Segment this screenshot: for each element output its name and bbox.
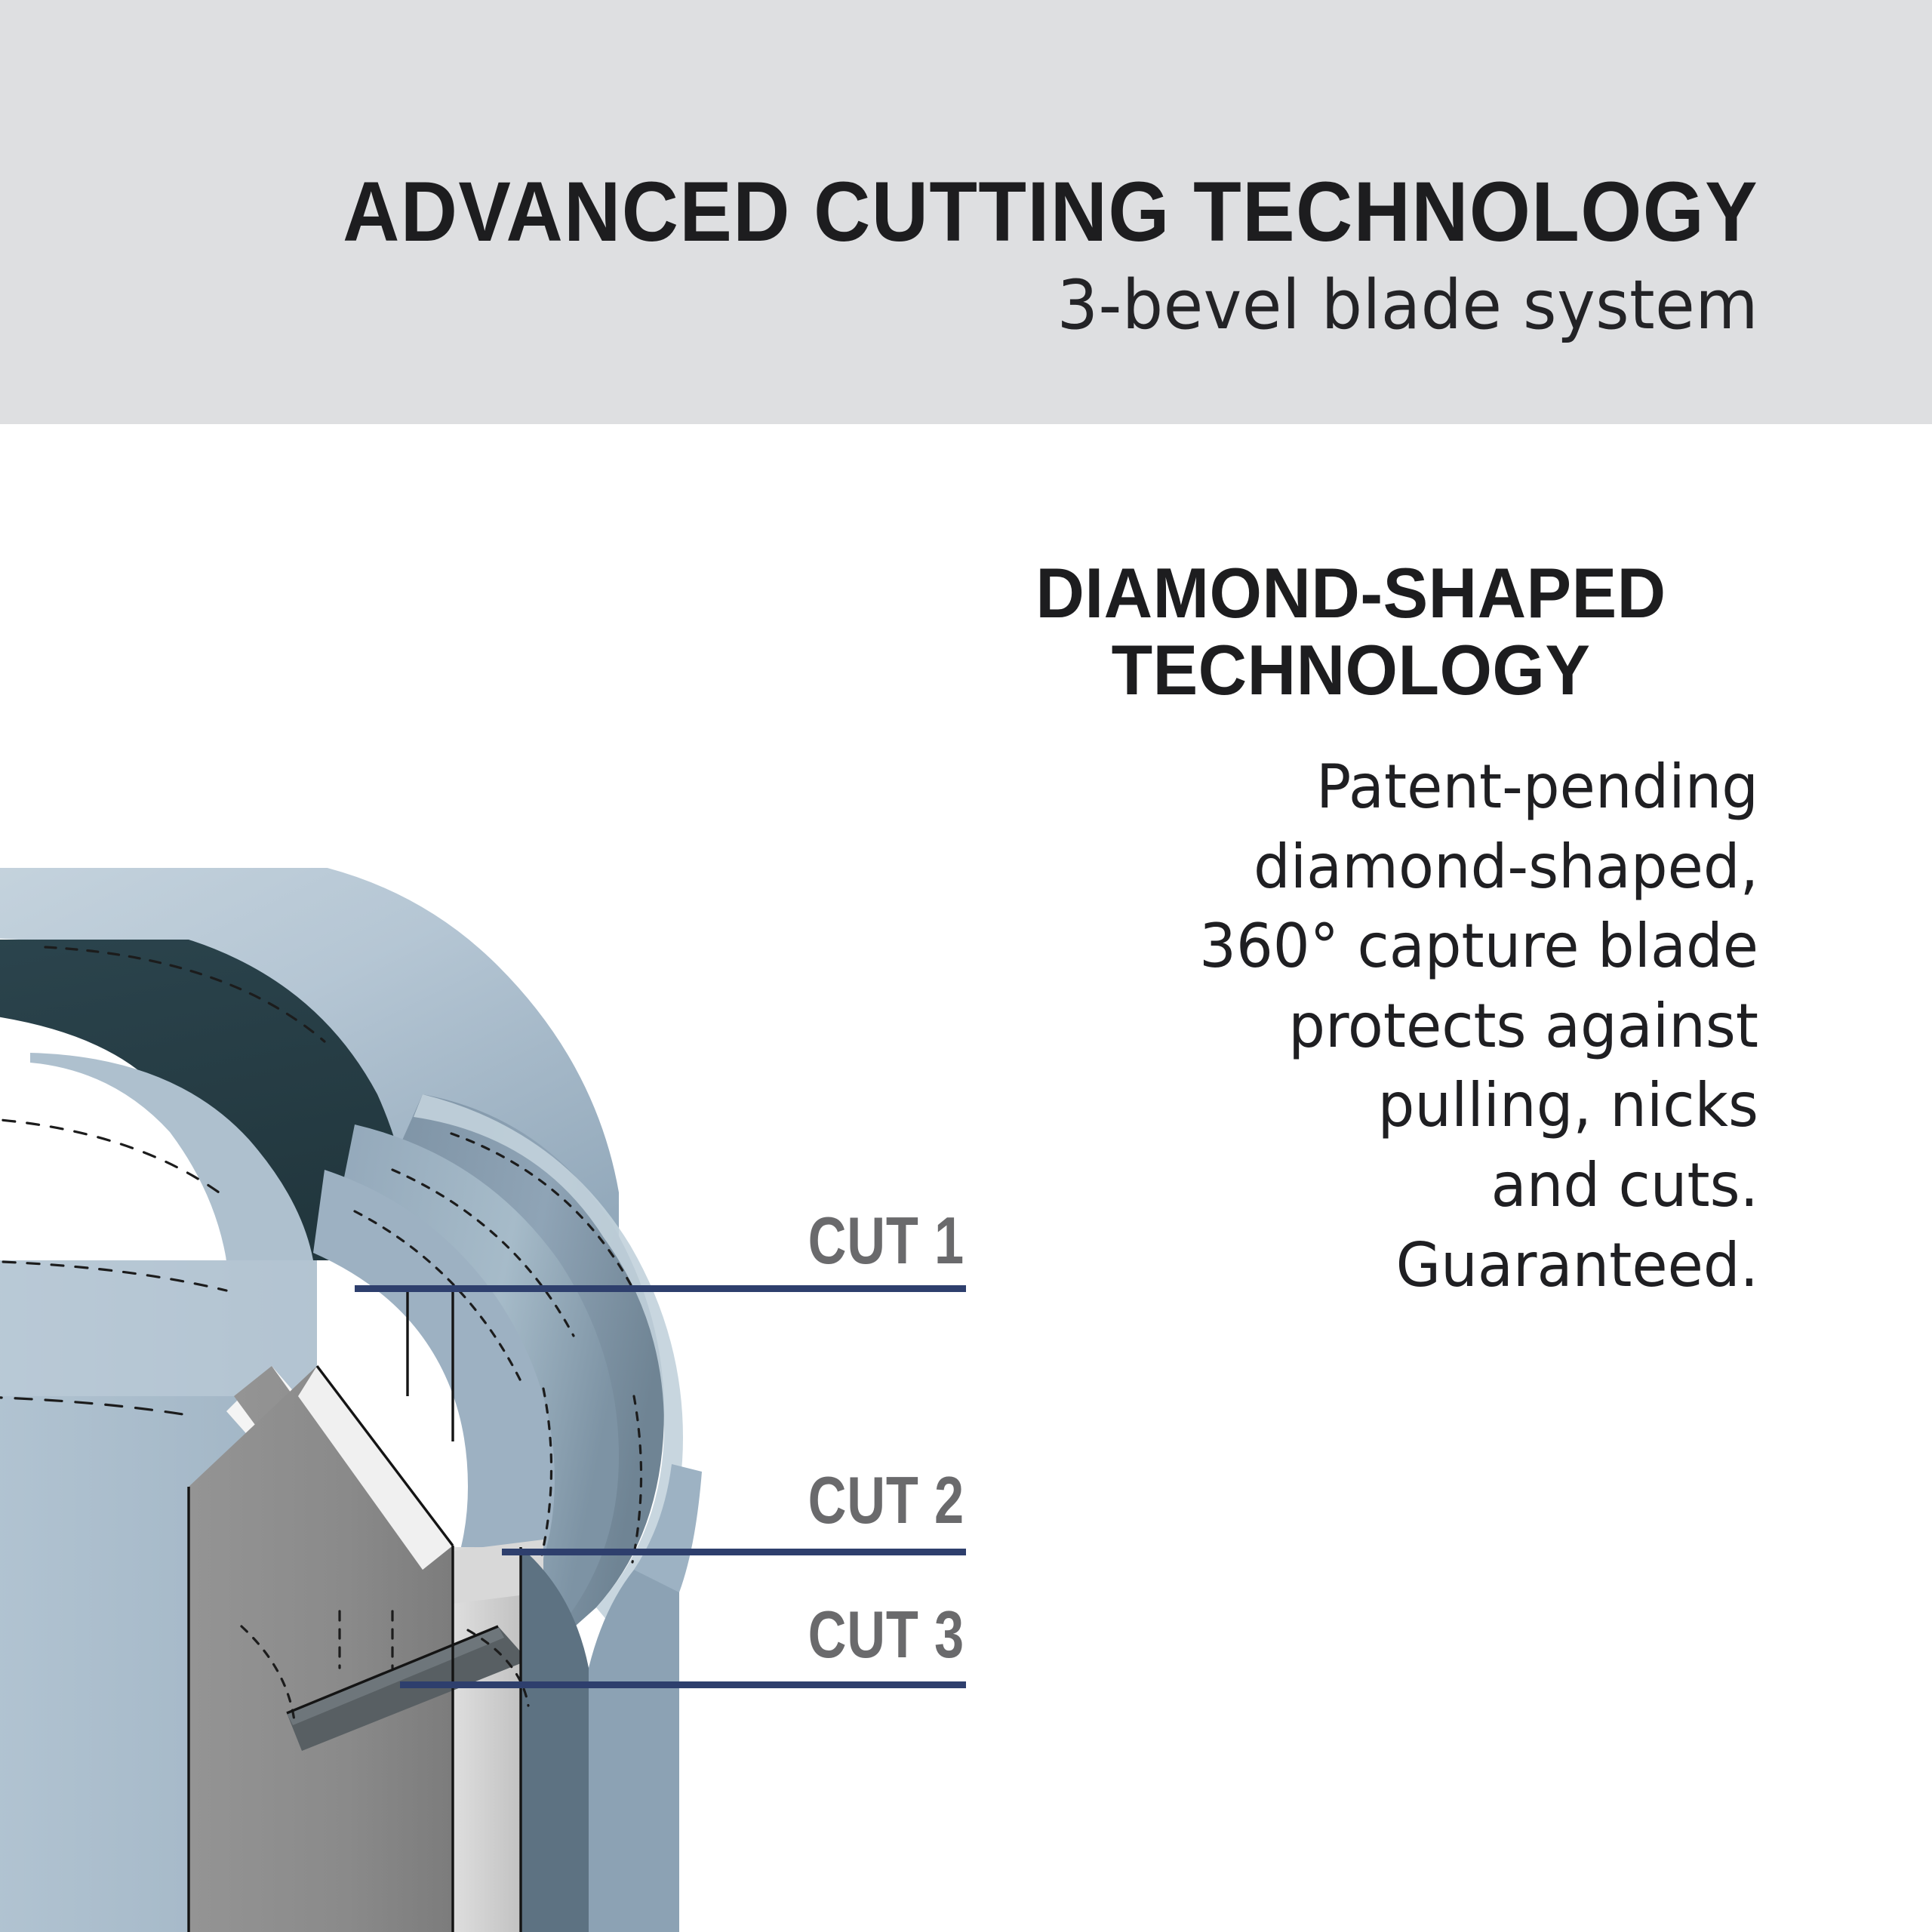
callout-label-cut-1: CUT 1	[663, 1207, 964, 1274]
feature-text-block: DIAMOND-SHAPEDTECHNOLOGY Patent-pendingd…	[943, 555, 1758, 1305]
callout-label-cut-3: CUT 3	[663, 1601, 964, 1668]
razor-cartridge-illustration	[0, 868, 845, 1932]
header-band: ADVANCED CUTTING TECHNOLOGY 3-bevel blad…	[0, 0, 1932, 424]
feature-body: Patent-pendingdiamond-shaped,360° captur…	[976, 747, 1758, 1305]
page-title: ADVANCED CUTTING TECHNOLOGY	[123, 170, 1758, 254]
feature-heading: DIAMOND-SHAPEDTECHNOLOGY	[964, 555, 1738, 708]
blade-main-slab	[189, 1366, 453, 1932]
callout-line-cut-1	[355, 1285, 966, 1292]
callout-line-cut-3	[400, 1681, 966, 1688]
callout-label-cut-2: CUT 2	[663, 1467, 964, 1534]
page-subtitle: 3-bevel blade system	[88, 272, 1759, 340]
callout-line-cut-2	[502, 1549, 966, 1555]
infographic-page: ADVANCED CUTTING TECHNOLOGY 3-bevel blad…	[0, 0, 1932, 1932]
product-render	[0, 868, 845, 1932]
blade-light-strip	[453, 1547, 521, 1932]
